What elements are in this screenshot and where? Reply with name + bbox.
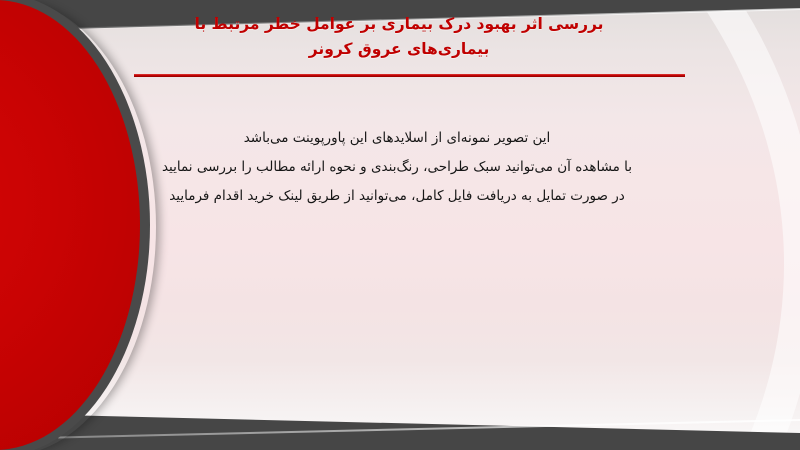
body-line-3: در صورت تمایل به دریافت فایل کامل، می‌تو… — [112, 182, 682, 211]
slide-title-line-1: بررسی اثر بهبود درک بیماری بر عوامل خطر … — [195, 15, 604, 33]
slide-title: بررسی اثر بهبود درک بیماری بر عوامل خطر … — [113, 12, 685, 62]
title-divider-rule — [134, 74, 685, 77]
body-line-1: این تصویر نمونه‌ای از اسلایدهای این پاور… — [112, 124, 682, 153]
body-line-2: با مشاهده آن می‌توانید سبک طراحی، رنگ‌بن… — [112, 153, 682, 182]
presentation-slide: بررسی اثر بهبود درک بیماری بر عوامل خطر … — [0, 0, 800, 450]
slide-content: بررسی اثر بهبود درک بیماری بر عوامل خطر … — [0, 0, 800, 450]
slide-title-line-2: بیماری‌های عروق کرونر — [309, 40, 490, 58]
slide-body-text: این تصویر نمونه‌ای از اسلایدهای این پاور… — [112, 124, 682, 211]
